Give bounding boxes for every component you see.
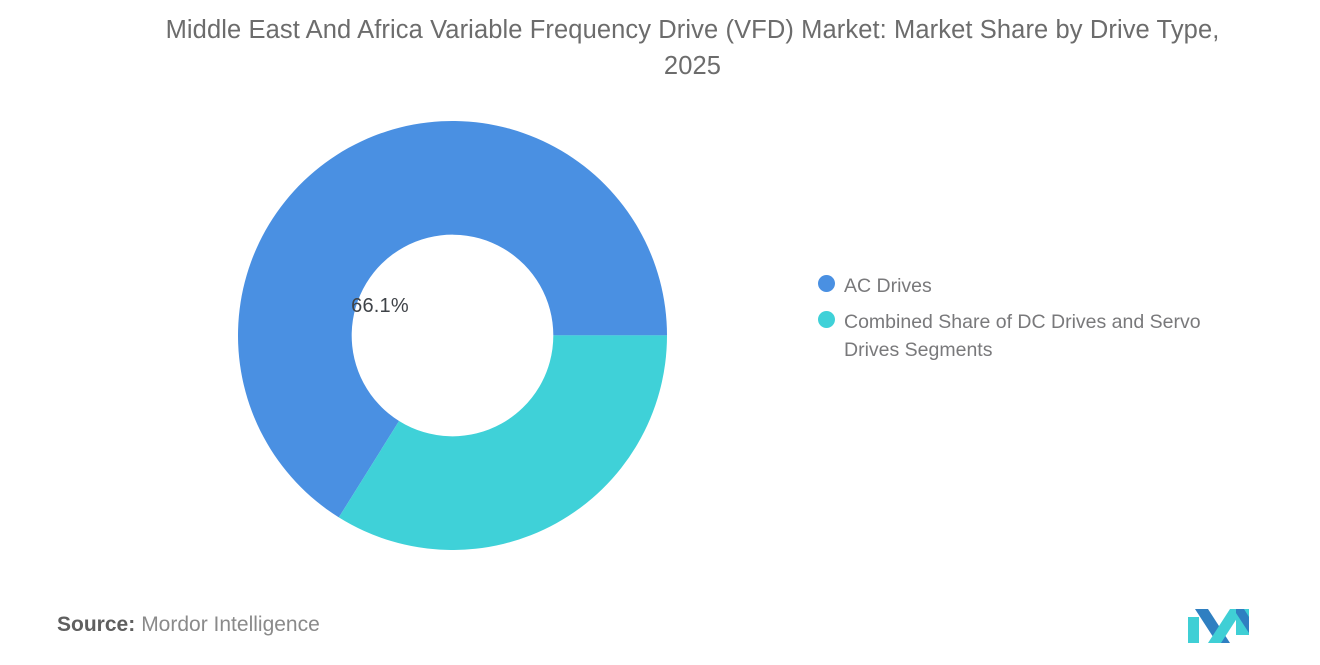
legend-label-dc-servo-drives: Combined Share of DC Drives and Servo Dr… bbox=[844, 308, 1254, 364]
source-value: Mordor Intelligence bbox=[141, 613, 320, 636]
donut-slice-dc-servo-drives[interactable] bbox=[339, 335, 667, 550]
plot-area: 66.1% bbox=[0, 100, 800, 570]
donut-svg bbox=[238, 121, 667, 550]
chart-title: Middle East And Africa Variable Frequenc… bbox=[150, 12, 1235, 84]
legend-swatch-icon-dc-servo-drives bbox=[818, 311, 835, 328]
source-line: Source:Mordor Intelligence bbox=[57, 613, 320, 637]
legend-swatch-icon-ac-drives bbox=[818, 275, 835, 292]
mi-logo-svg bbox=[1186, 607, 1252, 645]
source-label: Source: bbox=[57, 613, 135, 636]
footer: Source:Mordor Intelligence bbox=[0, 605, 1320, 665]
donut-chart bbox=[238, 121, 667, 550]
legend: AC Drives Combined Share of DC Drives an… bbox=[818, 272, 1268, 372]
chart-title-line-1: Middle East And Africa Variable Frequenc… bbox=[166, 16, 1049, 44]
legend-item-dc-servo-drives[interactable]: Combined Share of DC Drives and Servo Dr… bbox=[818, 308, 1268, 364]
mordor-intelligence-logo-icon bbox=[1186, 607, 1252, 645]
legend-item-ac-drives[interactable]: AC Drives bbox=[818, 272, 1268, 300]
legend-label-ac-drives: AC Drives bbox=[844, 272, 932, 300]
